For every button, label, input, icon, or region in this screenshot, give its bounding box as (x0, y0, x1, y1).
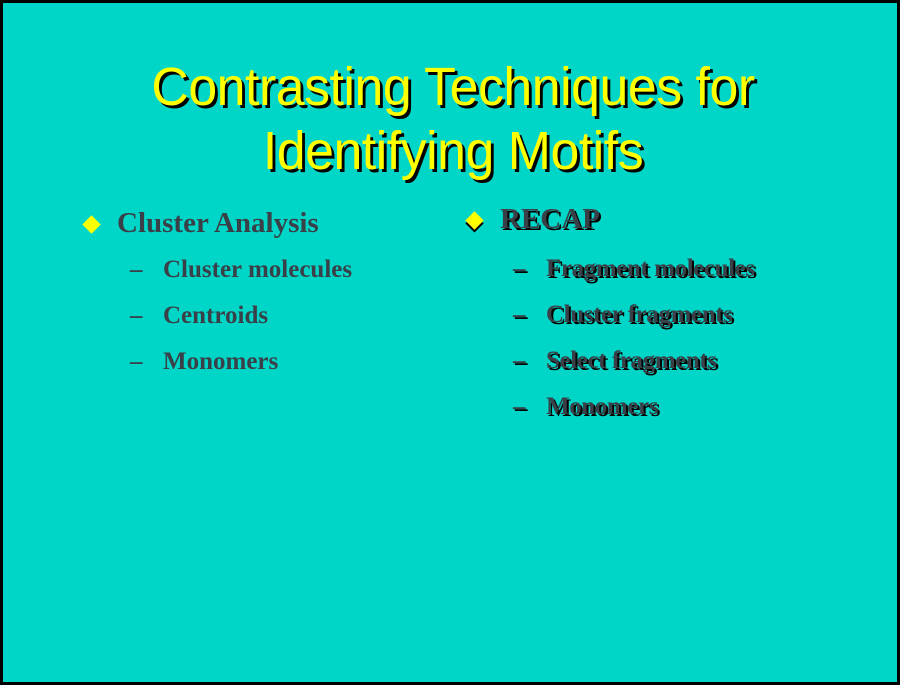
sub-bullet-item: – Fragment molecules (458, 255, 878, 283)
dash-bullet-icon: – (130, 302, 143, 330)
dash-bullet-icon: – (513, 255, 525, 283)
slide-title-line-1: Contrasting Techniques for (21, 55, 885, 119)
sub-bullet-item: – Cluster molecules (75, 256, 465, 284)
sub-bullet-list-cluster-analysis: – Cluster molecules – Centroids – Monome… (75, 256, 465, 376)
sub-bullet-label: Monomers (163, 348, 278, 375)
bullet-heading-label: RECAP (500, 203, 600, 235)
bullet-heading-cluster-analysis: Cluster Analysis (75, 207, 465, 240)
sub-bullet-item: – Monomers (75, 348, 465, 376)
dash-bullet-icon: – (130, 256, 143, 284)
sub-bullet-item: – Cluster fragments (458, 301, 878, 329)
sub-bullet-label: Monomers (546, 393, 658, 420)
dash-bullet-icon: – (513, 301, 525, 329)
sub-bullet-item: – Select fragments (458, 347, 878, 375)
sub-bullet-label: Fragment molecules (546, 255, 755, 282)
bullet-heading-recap: RECAP (458, 203, 878, 236)
bullet-heading-label: Cluster Analysis (117, 207, 319, 239)
diamond-bullet-icon (82, 215, 100, 233)
sub-bullet-label: Select fragments (546, 347, 717, 374)
diamond-bullet-icon (465, 211, 483, 229)
dash-bullet-icon: – (513, 347, 525, 375)
sub-bullet-label: Cluster fragments (546, 301, 732, 328)
sub-bullet-item: – Monomers (458, 393, 878, 421)
sub-bullet-label: Cluster molecules (163, 256, 352, 283)
content-column-cluster-analysis: Cluster Analysis – Cluster molecules – C… (75, 3, 465, 36)
slide-title: Contrasting Techniques for Identifying M… (21, 55, 885, 183)
dash-bullet-icon: – (130, 348, 143, 376)
slide-title-line-2: Identifying Motifs (21, 119, 885, 183)
sub-bullet-item: – Centroids (75, 302, 465, 330)
content-column-recap: RECAP – Fragment molecules – Cluster fra… (458, 3, 878, 36)
sub-bullet-list-recap: – Fragment molecules – Cluster fragments… (458, 255, 878, 421)
sub-bullet-label: Centroids (163, 302, 268, 329)
dash-bullet-icon: – (513, 393, 525, 421)
presentation-slide: Contrasting Techniques for Identifying M… (0, 0, 900, 685)
